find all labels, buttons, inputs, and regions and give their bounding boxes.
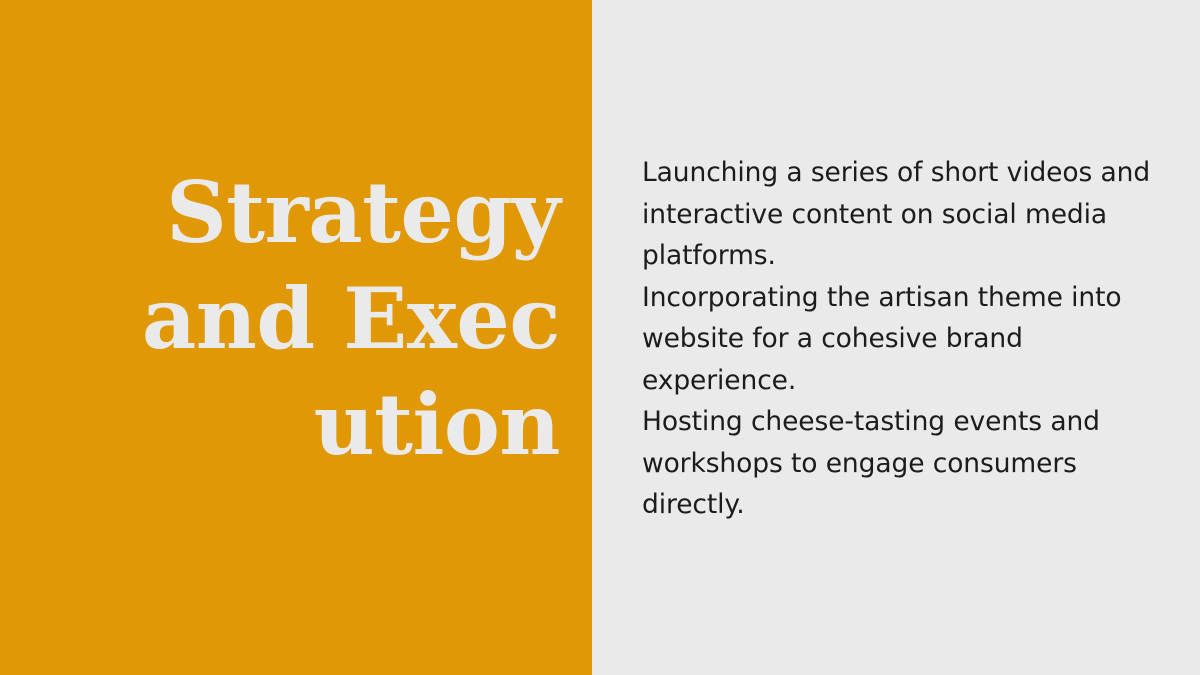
body-paragraph-1: Launching a series of short videos and i…	[642, 152, 1172, 277]
body-paragraph-3: Hosting cheese-tasting events and worksh…	[642, 401, 1172, 526]
title-accent-panel: Strategy and Execution	[0, 0, 592, 675]
body-paragraph-2: Incorporating the artisan theme into web…	[642, 277, 1172, 402]
slide-canvas: Strategy and Execution Launching a serie…	[0, 0, 1200, 675]
content-panel: Launching a series of short videos and i…	[592, 0, 1200, 675]
title-container: Strategy and Execution	[112, 160, 560, 478]
page-title: Strategy and Execution	[112, 160, 560, 478]
body-text-container: Launching a series of short videos and i…	[642, 152, 1172, 526]
